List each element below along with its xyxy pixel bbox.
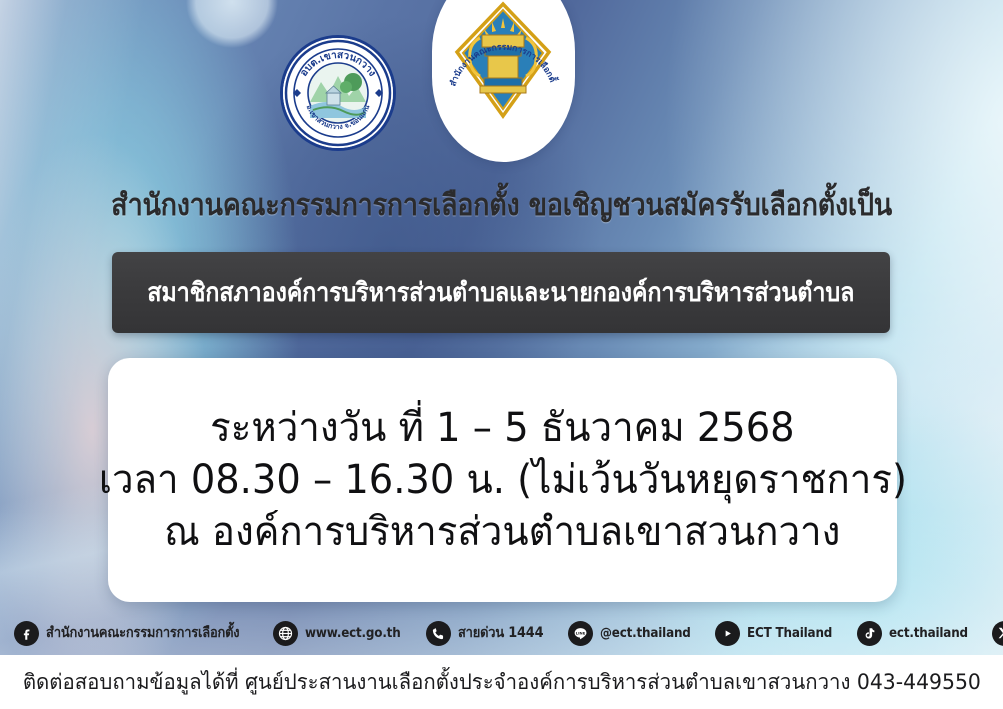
website-icon <box>273 621 298 646</box>
social-label-tiktok: ect.thailand <box>889 626 968 641</box>
social-item-facebook[interactable]: สำนักงานคณะกรรมการการเลือกตั้ง <box>14 621 256 646</box>
social-media-bar: สำนักงานคณะกรรมการการเลือกตั้ง www.ect.g… <box>0 612 1003 654</box>
x-twitter-icon <box>992 621 1003 646</box>
social-item-youtube[interactable]: ECT Thailand <box>715 621 840 646</box>
social-item-tiktok[interactable]: ect.thailand <box>857 621 975 646</box>
position-banner: สมาชิกสภาองค์การบริหารส่วนตำบลและนายกองค… <box>112 252 890 333</box>
tiktok-icon <box>857 621 882 646</box>
social-label-line: @ect.thailand <box>600 626 691 641</box>
position-banner-text: สมาชิกสภาองค์การบริหารส่วนตำบลและนายกองค… <box>148 272 855 313</box>
social-label-facebook: สำนักงานคณะกรรมการการเลือกตั้ง <box>46 622 239 644</box>
ect-emblem-logo: สำนักงานคณะกรรมการการเลือกตั้ง <box>432 0 575 162</box>
poster-image: อบต.เขาสวนกวาง อ.เขาสวนกวาง จ.ขอนแก่น <box>0 0 1003 655</box>
social-item-website[interactable]: www.ect.go.th <box>273 621 409 646</box>
social-item-line[interactable]: LINE @ect.thailand <box>568 621 699 646</box>
social-item-x-twitter[interactable]: @EctThailand <box>992 621 1003 646</box>
social-label-youtube: ECT Thailand <box>747 626 832 641</box>
details-card: ระหว่างวัน ที่ 1 – 5 ธันวาคม 2568 เวลา 0… <box>108 358 897 602</box>
facebook-icon <box>14 621 39 646</box>
contact-text: ติดต่อสอบถามข้อมูลได้ที่ ศูนย์ประสานงานเ… <box>22 666 980 699</box>
social-label-phone: สายด่วน 1444 <box>458 622 543 644</box>
youtube-icon <box>715 621 740 646</box>
svg-text:LINE: LINE <box>576 630 586 635</box>
details-line-venue: ณ องค์การบริหารส่วนตำบลเขาสวนกวาง <box>164 506 840 558</box>
details-line-date: ระหว่างวัน ที่ 1 – 5 ธันวาคม 2568 <box>210 402 794 454</box>
phone-icon <box>426 621 451 646</box>
sao-seal-logo: อบต.เขาสวนกวาง อ.เขาสวนกวาง จ.ขอนแก่น <box>283 38 393 148</box>
line-icon: LINE <box>568 621 593 646</box>
contact-strip: ติดต่อสอบถามข้อมูลได้ที่ ศูนย์ประสานงานเ… <box>0 655 1003 709</box>
details-line-time: เวลา 08.30 – 16.30 น. (ไม่เว้นวันหยุดราช… <box>98 454 906 506</box>
social-item-phone[interactable]: สายด่วน 1444 <box>426 621 551 646</box>
social-label-website: www.ect.go.th <box>305 626 401 641</box>
page-headline: สำนักงานคณะกรรมการการเลือกตั้ง ขอเชิญชวน… <box>50 182 953 229</box>
